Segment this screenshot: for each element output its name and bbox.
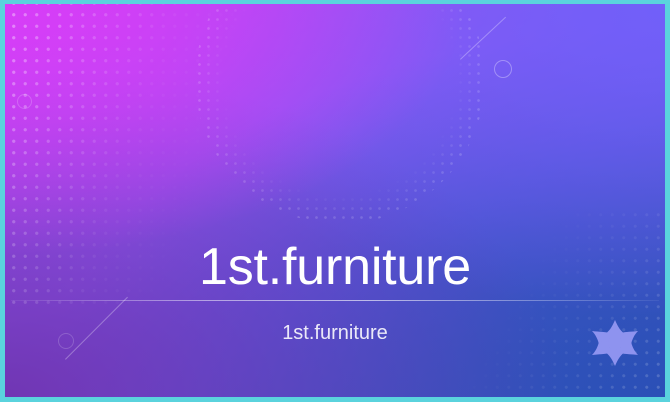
six-pointed-star-logo-icon (590, 318, 640, 368)
dotted-ring-icon (195, 4, 485, 224)
banner-content: 1st.furniture 1st.furniture (5, 236, 665, 346)
circle-outline-top-right-icon (494, 60, 512, 78)
page-subtitle: 1st.furniture (5, 298, 665, 346)
diagonal-line-top-right-icon (460, 17, 506, 60)
circle-outline-top-left-icon (17, 94, 32, 109)
title-divider (11, 300, 659, 301)
gradient-canvas: 1st.furniture 1st.furniture (5, 4, 665, 397)
domain-banner-card: 1st.furniture 1st.furniture (0, 0, 670, 402)
page-title: 1st.furniture (5, 236, 665, 298)
